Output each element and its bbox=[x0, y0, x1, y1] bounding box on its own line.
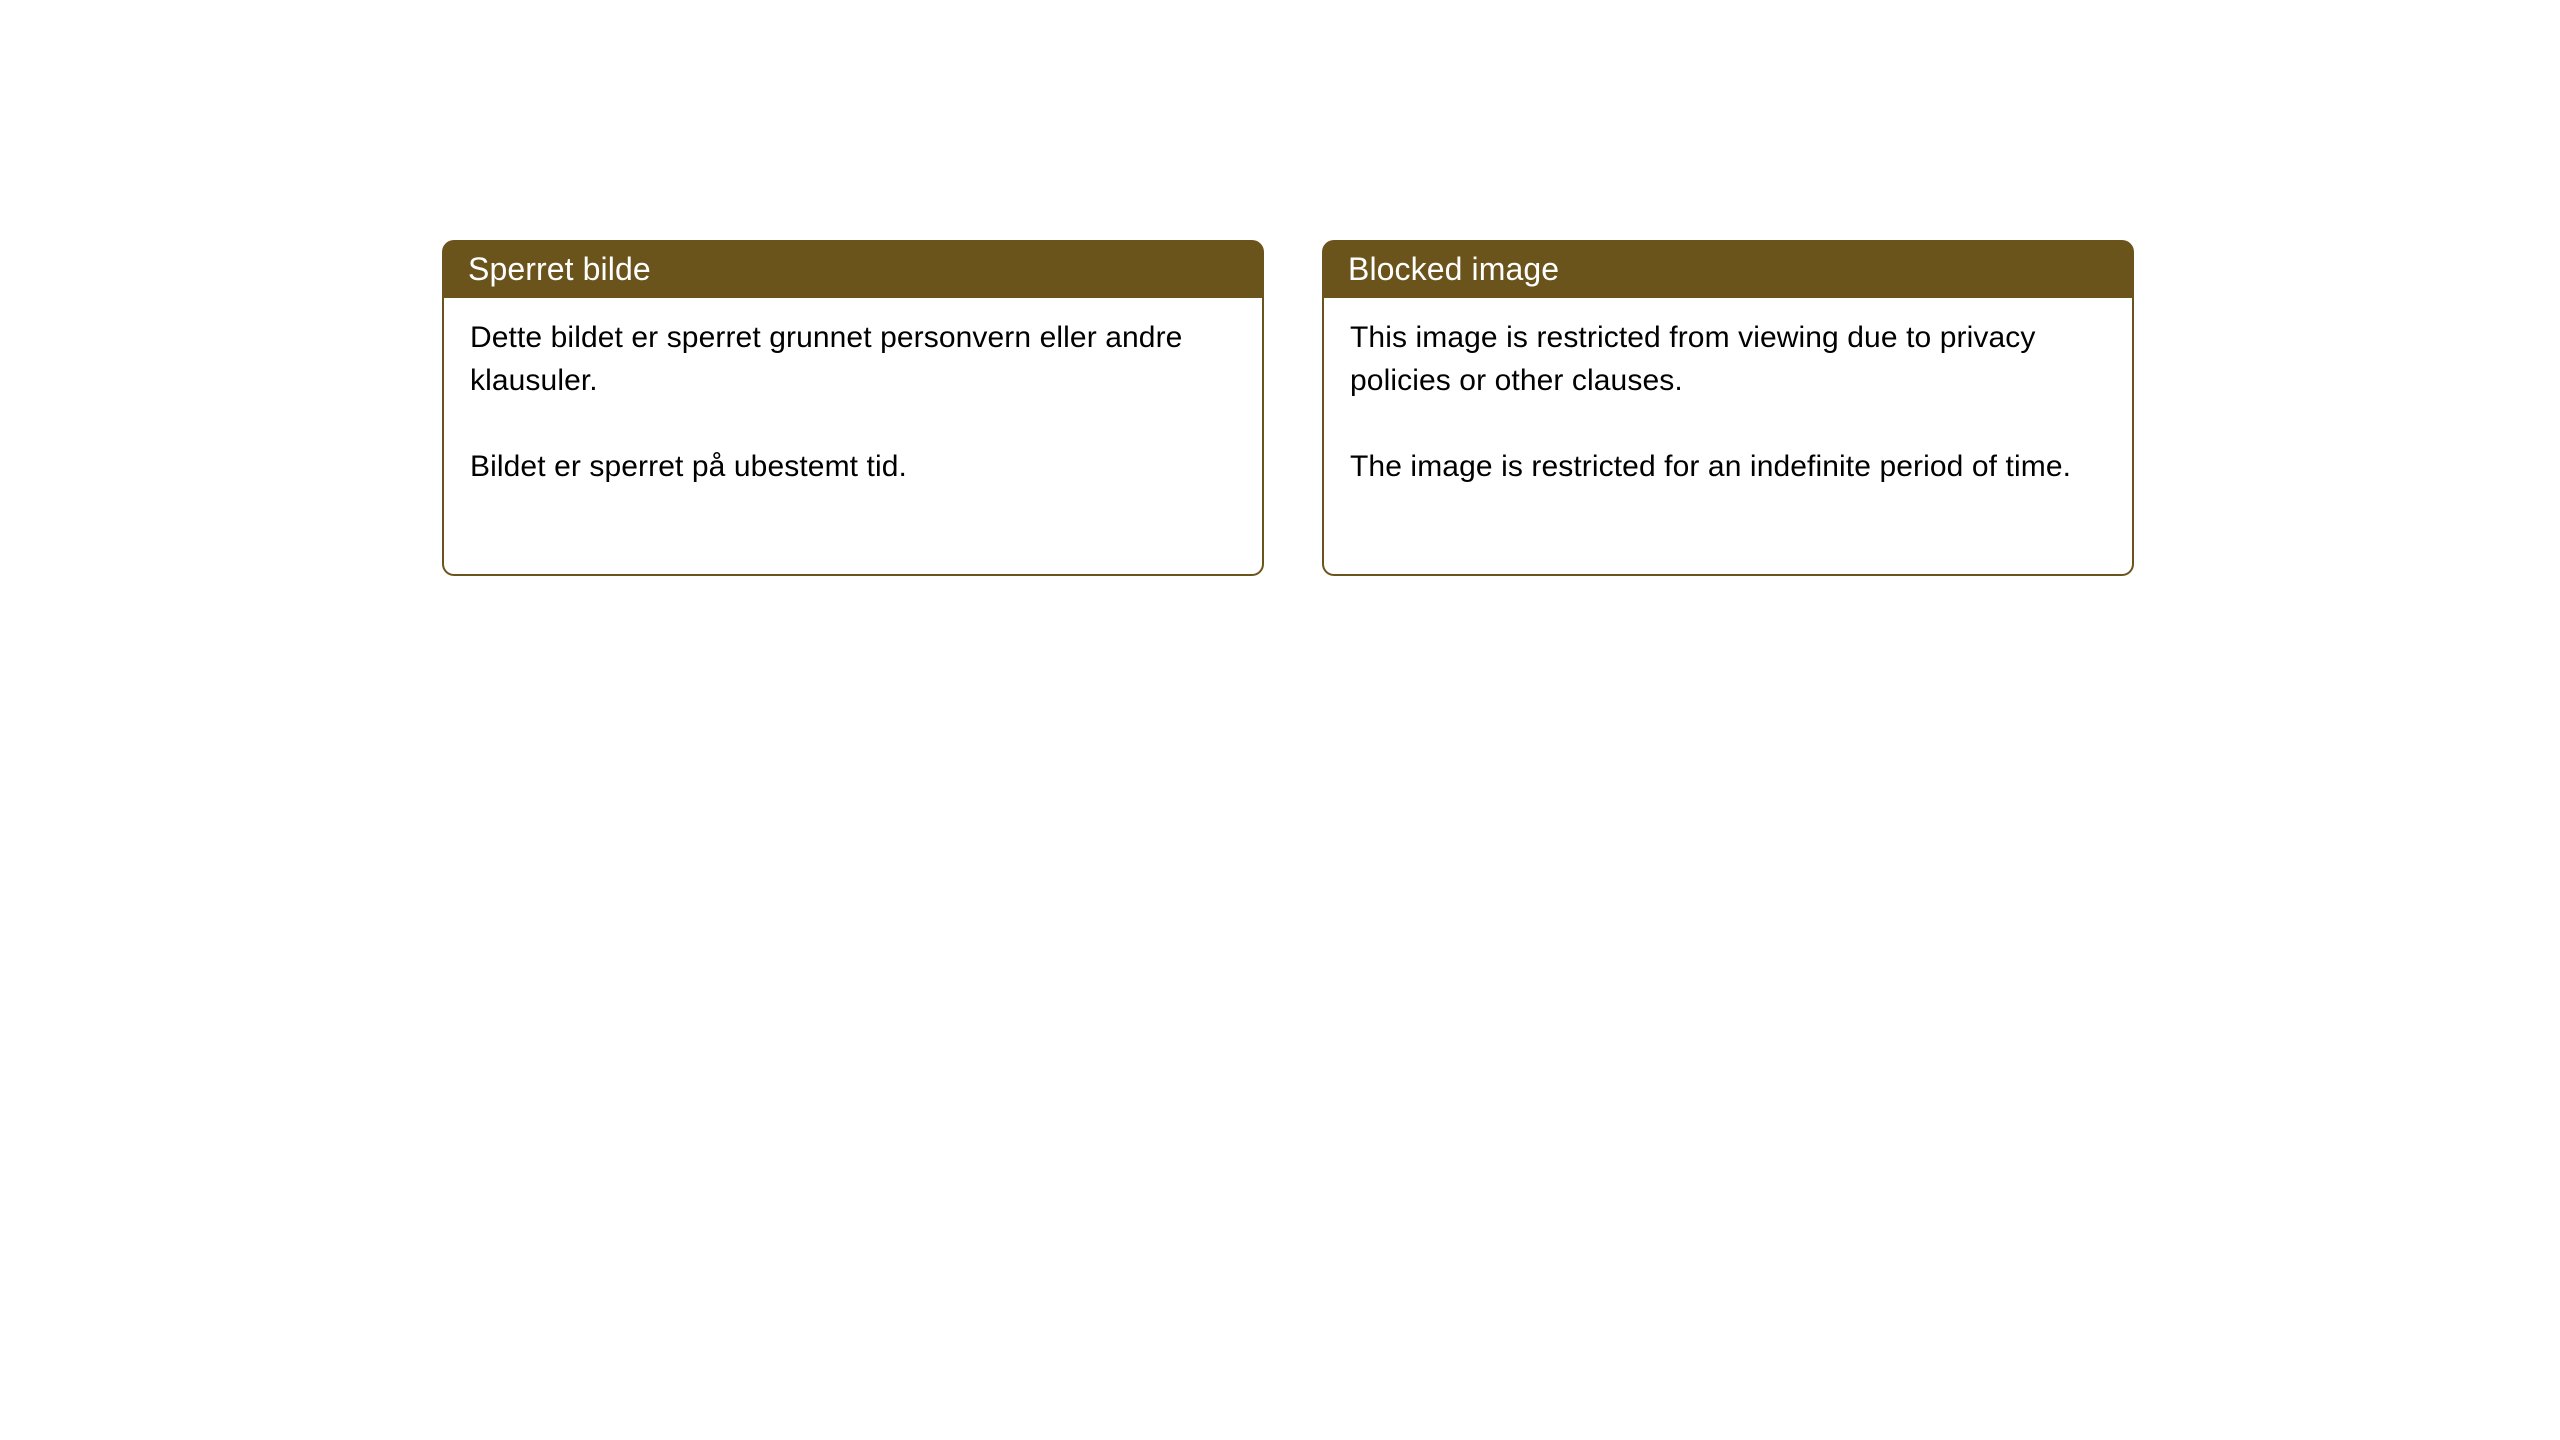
card-title-english: Blocked image bbox=[1348, 252, 1559, 286]
card-header-english: Blocked image bbox=[1322, 240, 2134, 298]
page-root: Sperret bilde Dette bildet er sperret gr… bbox=[0, 0, 2560, 1440]
card-body-english: This image is restricted from viewing du… bbox=[1322, 298, 2134, 576]
blocked-image-notice-card-norwegian: Sperret bilde Dette bildet er sperret gr… bbox=[442, 240, 1264, 576]
card-header-norwegian: Sperret bilde bbox=[442, 240, 1264, 298]
blocked-image-notice-card-english: Blocked image This image is restricted f… bbox=[1322, 240, 2134, 576]
card-paragraph-duration-norwegian: Bildet er sperret på ubestemt tid. bbox=[470, 445, 1240, 488]
card-body-norwegian: Dette bildet er sperret grunnet personve… bbox=[442, 298, 1264, 576]
card-title-norwegian: Sperret bilde bbox=[468, 252, 651, 286]
card-paragraph-privacy-norwegian: Dette bildet er sperret grunnet personve… bbox=[470, 316, 1240, 402]
card-paragraph-duration-english: The image is restricted for an indefinit… bbox=[1350, 445, 2118, 488]
card-paragraph-privacy-english: This image is restricted from viewing du… bbox=[1350, 316, 2118, 402]
